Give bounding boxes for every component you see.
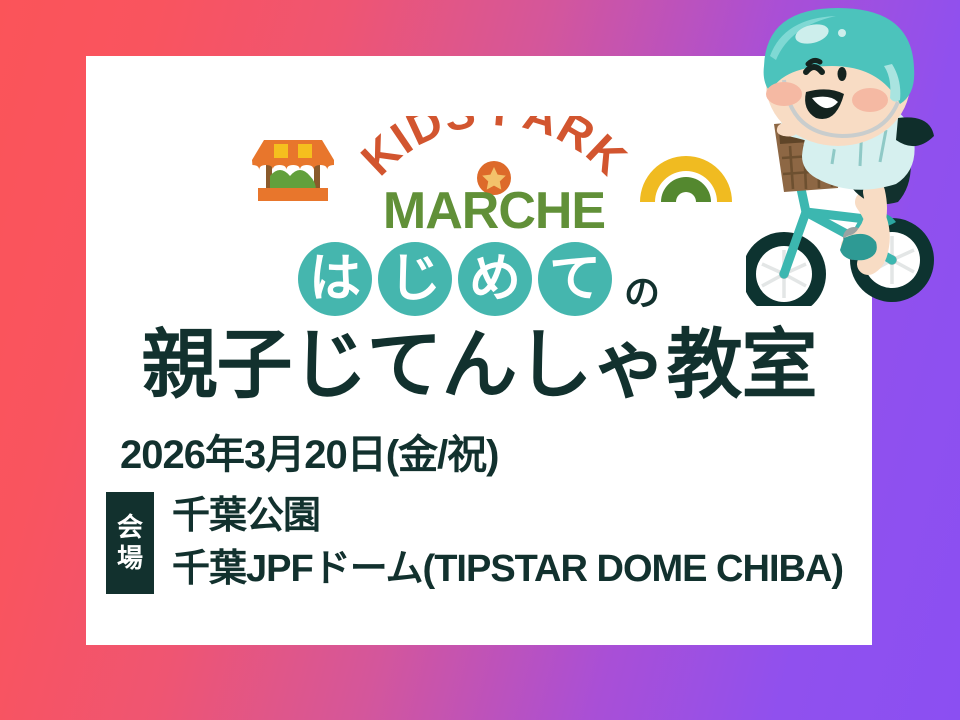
helmet-dot [838, 29, 846, 37]
venue-line-2: 千葉JPFドーム(TIPSTAR DOME CHIBA) [172, 545, 843, 594]
kana-bubble-1: は [298, 242, 372, 316]
kana-bubble-2: じ [378, 242, 452, 316]
head [764, 8, 934, 146]
venue-badge: 会 場 [106, 492, 154, 594]
kana-bubble-3: め [458, 242, 532, 316]
girl-on-bicycle-illustration [746, 6, 960, 306]
cheek-left [766, 82, 802, 106]
venue-block: 会 場 千葉公園 千葉JPFドーム(TIPSTAR DOME CHIBA) [106, 492, 856, 594]
kana-bubble-4: て [538, 242, 612, 316]
logo-text-group: KIDS PARK MARCHE [344, 116, 644, 232]
eye-right [838, 67, 847, 81]
page-title: 親子じてんしゃ教室 [86, 328, 872, 404]
rainbow-icon [634, 148, 738, 204]
venue-badge-char-2: 場 [117, 545, 143, 572]
hajimete-suffix: の [624, 264, 660, 322]
ponytail [896, 117, 934, 146]
logo-word-text: MARCHE [383, 182, 605, 232]
shoe [840, 234, 877, 260]
event-date: 2026年3月20日(金/祝) [120, 422, 498, 480]
cheek-right [852, 88, 888, 112]
market-stall-icon [250, 136, 336, 202]
venue-badge-char-1: 会 [117, 514, 143, 541]
venue-line-1: 千葉公園 [172, 492, 843, 541]
venue-lines: 千葉公園 千葉JPFドーム(TIPSTAR DOME CHIBA) [172, 492, 843, 593]
